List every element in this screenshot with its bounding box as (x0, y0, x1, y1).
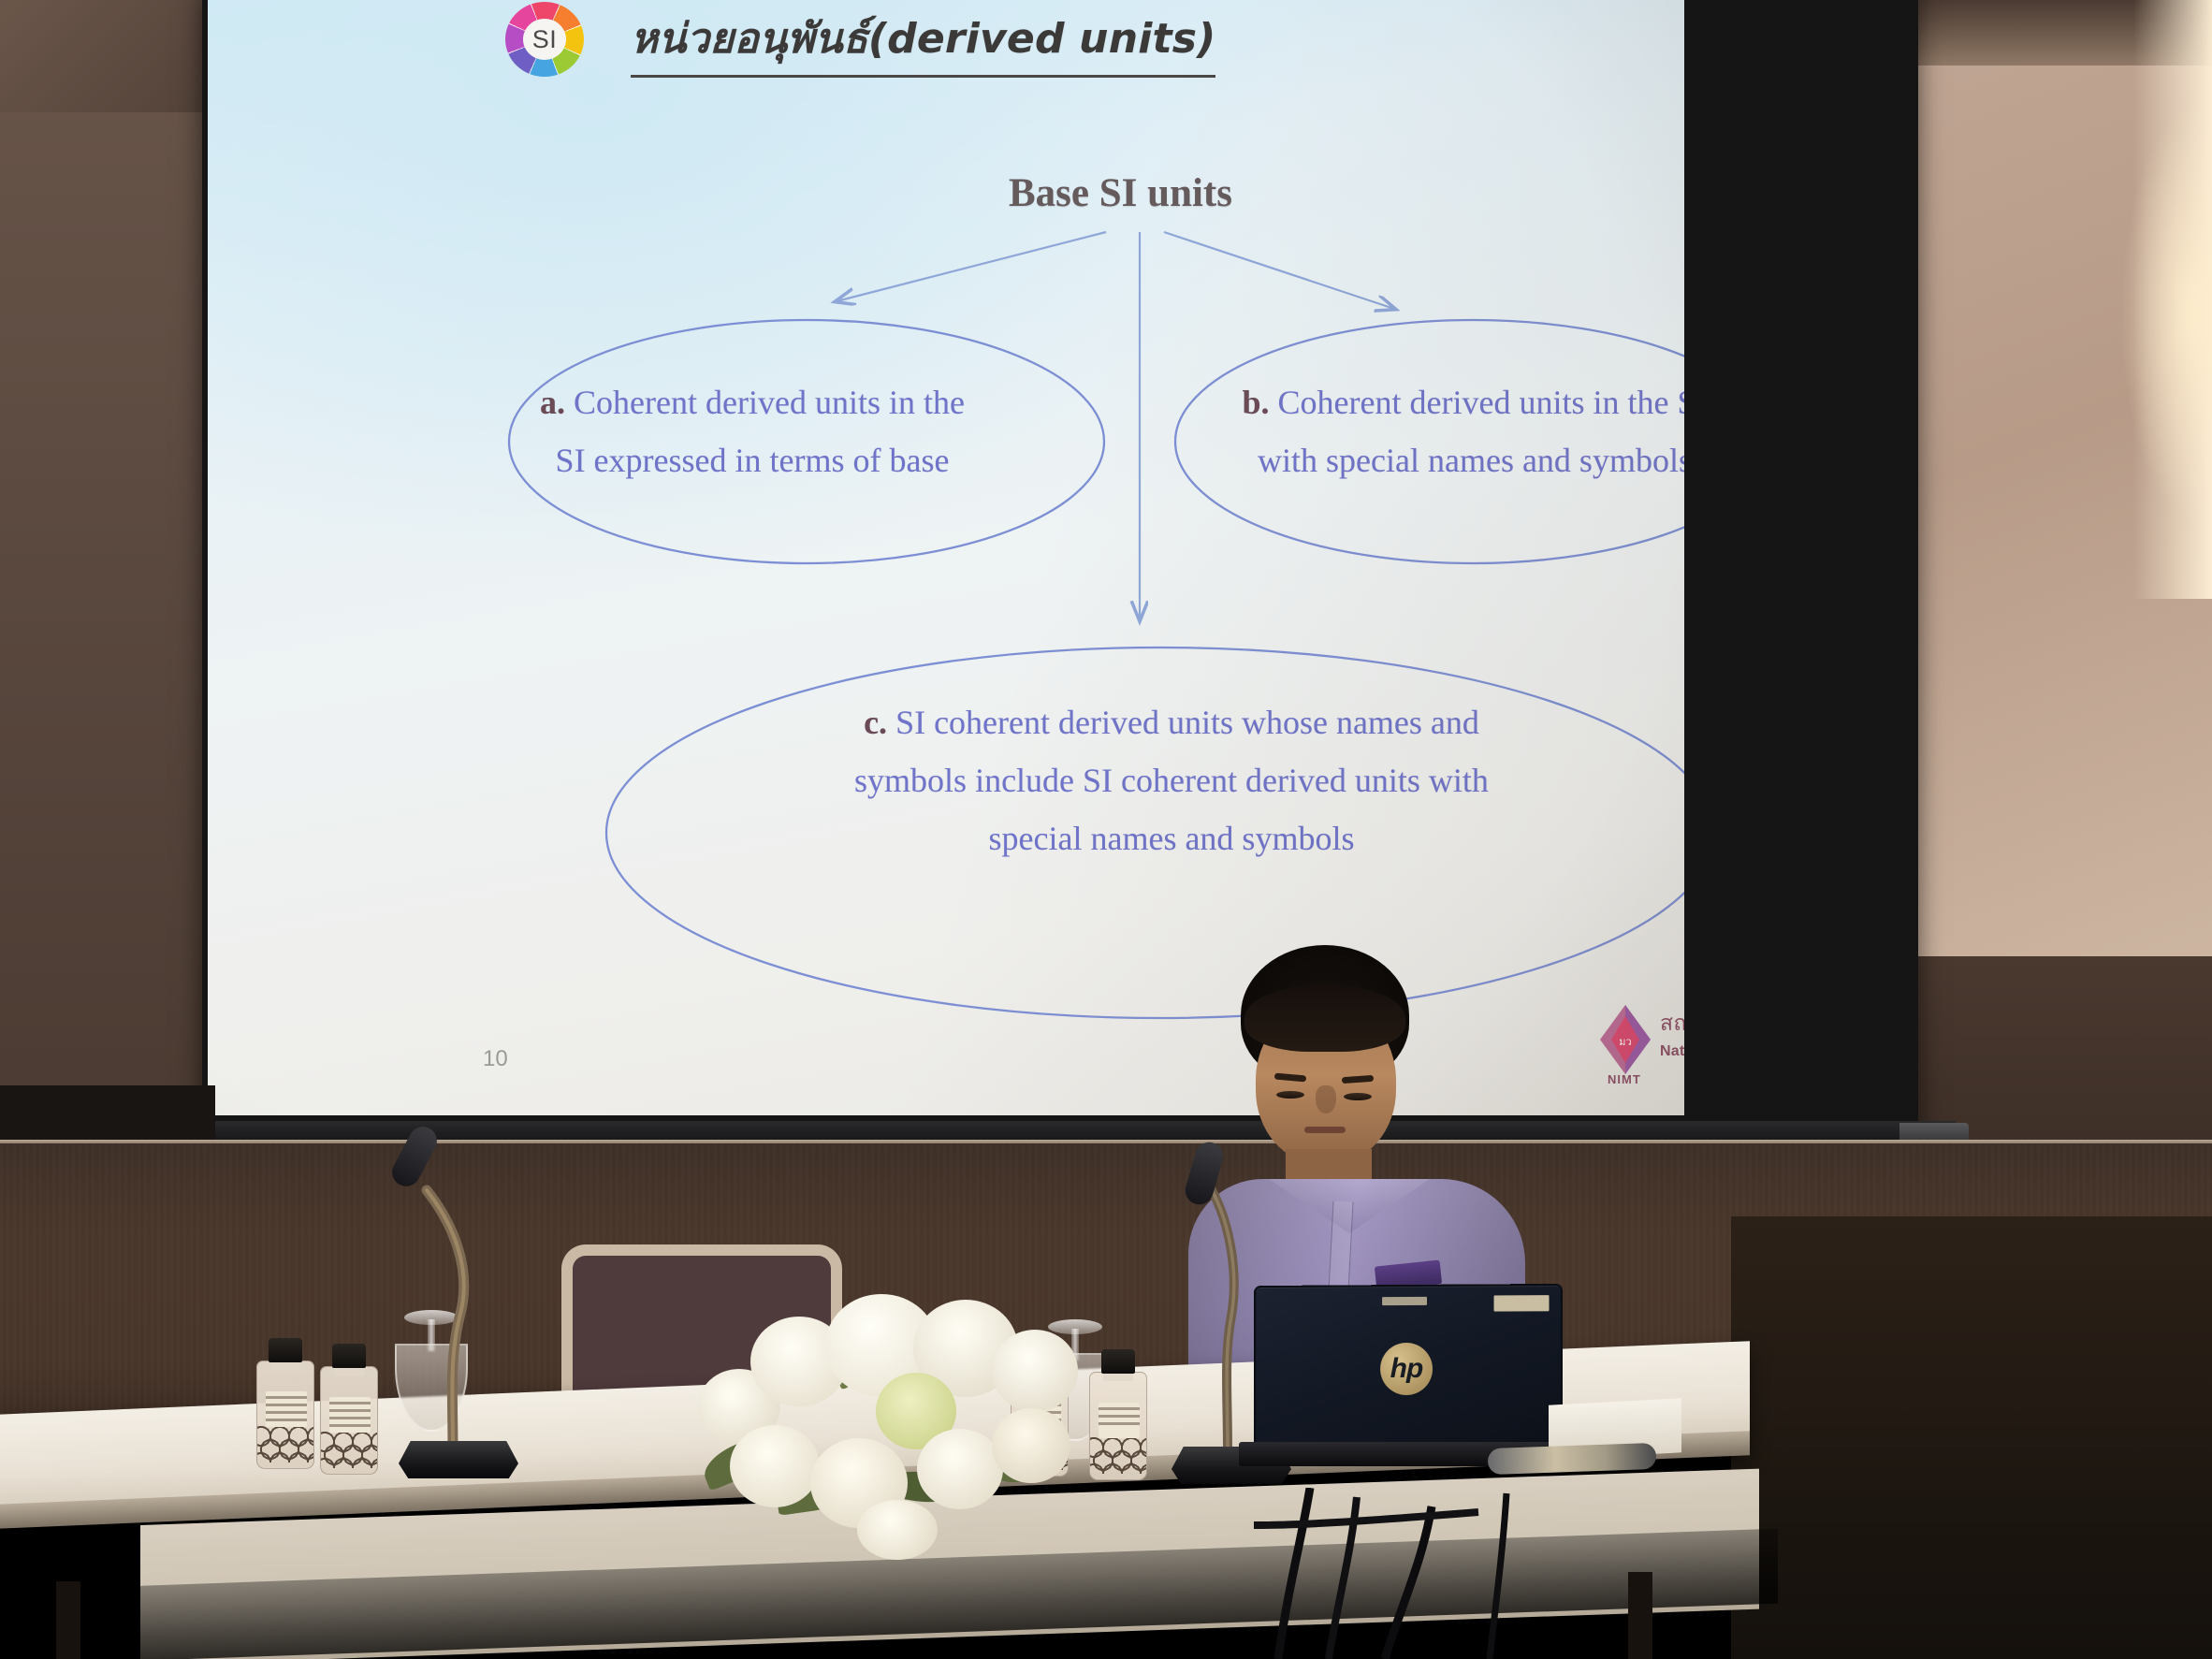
bottle-cap (269, 1338, 302, 1362)
hp-logo-icon: hp (1380, 1343, 1433, 1395)
svg-text:มว: มว (1619, 1036, 1631, 1048)
nimt-abbreviation: NIMT (1608, 1072, 1641, 1086)
microphone-left[interactable] (393, 1113, 543, 1488)
node-c-marker: c. (864, 704, 887, 741)
presenter-eye-left (1276, 1091, 1304, 1099)
arrow-to-node-b (1164, 232, 1394, 309)
flower-bloom (917, 1429, 1003, 1509)
microphone-base (399, 1441, 518, 1478)
bottle-label (266, 1391, 307, 1427)
node-c-line3: special names and symbols (989, 820, 1355, 857)
presentation-room-scene: SI หน่วยอนุพันธ์(derived units) Base SI … (0, 0, 2212, 1659)
node-a-line2: SI expressed in terms of base (556, 442, 950, 479)
slide-page-number: 10 (483, 1046, 508, 1072)
flower-bloom (730, 1425, 820, 1507)
presenter-nose (1316, 1085, 1336, 1113)
flower-bloom (992, 1330, 1078, 1412)
node-c-line2: symbols include SI coherent derived unit… (854, 762, 1489, 799)
node-b-line1: Coherent derived units in the SI (1278, 384, 1684, 421)
laptop-lid: hp (1254, 1284, 1563, 1454)
laptop-corner-sticker (1494, 1295, 1550, 1311)
flower-bloom (992, 1408, 1070, 1483)
bottle-body (256, 1361, 314, 1469)
left-dark-gap (0, 1085, 215, 1143)
water-bottle-4[interactable] (1089, 1349, 1147, 1480)
wall-light-glow (2133, 0, 2212, 599)
node-c-line1: SI coherent derived units whose names an… (895, 704, 1479, 741)
node-a-marker: a. (540, 384, 565, 421)
bottle-cap (1101, 1349, 1135, 1374)
bottle-label (1099, 1403, 1140, 1438)
nimt-name-thai: สถาบันมาตรวิทยาแห่งชาติ (1660, 1007, 1684, 1041)
nimt-name-english: National Institute of Metrology (Thailan… (1660, 1043, 1684, 1060)
laptop-model-sticker (1382, 1297, 1427, 1305)
nimt-logo: มว สถาบันมาตรวิทยาแห่งชาติ National Inst… (1596, 1001, 1684, 1091)
flower-bloom (857, 1500, 938, 1560)
arrow-to-node-a (837, 232, 1106, 301)
node-b-text: b. Coherent derived units in the SI with… (1181, 374, 1684, 490)
bottle-body (1089, 1372, 1147, 1480)
nimt-diamond-icon: มว (1596, 1003, 1654, 1076)
nimt-text-block: สถาบันมาตรวิทยาแห่งชาติ National Institu… (1660, 1007, 1684, 1060)
presenter-mouth (1304, 1127, 1346, 1133)
floor-area (1731, 1216, 2212, 1659)
node-a-line1: Coherent derived units in the (574, 384, 965, 421)
bottle-label (329, 1397, 371, 1433)
bottle-body (320, 1366, 378, 1475)
water-bottle-2[interactable] (320, 1344, 378, 1475)
node-b-line2: with special names and symbols (1258, 442, 1684, 479)
presenter-eye-right (1344, 1093, 1372, 1100)
node-b-marker: b. (1243, 384, 1270, 421)
cable-connector (1488, 1443, 1657, 1475)
node-c-text: c. SI coherent derived units whose names… (694, 694, 1649, 868)
hp-laptop[interactable]: hp (1252, 1285, 1561, 1453)
cable-bundle (1198, 1488, 1722, 1659)
node-a-text: a. Coherent derived units in the SI expr… (468, 374, 1037, 490)
flower-arrangement (692, 1268, 1085, 1549)
table-leg-left (56, 1581, 80, 1659)
bottle-cap (332, 1344, 366, 1368)
water-bottle-1[interactable] (256, 1338, 314, 1469)
presenter-hair-front (1244, 984, 1405, 1052)
